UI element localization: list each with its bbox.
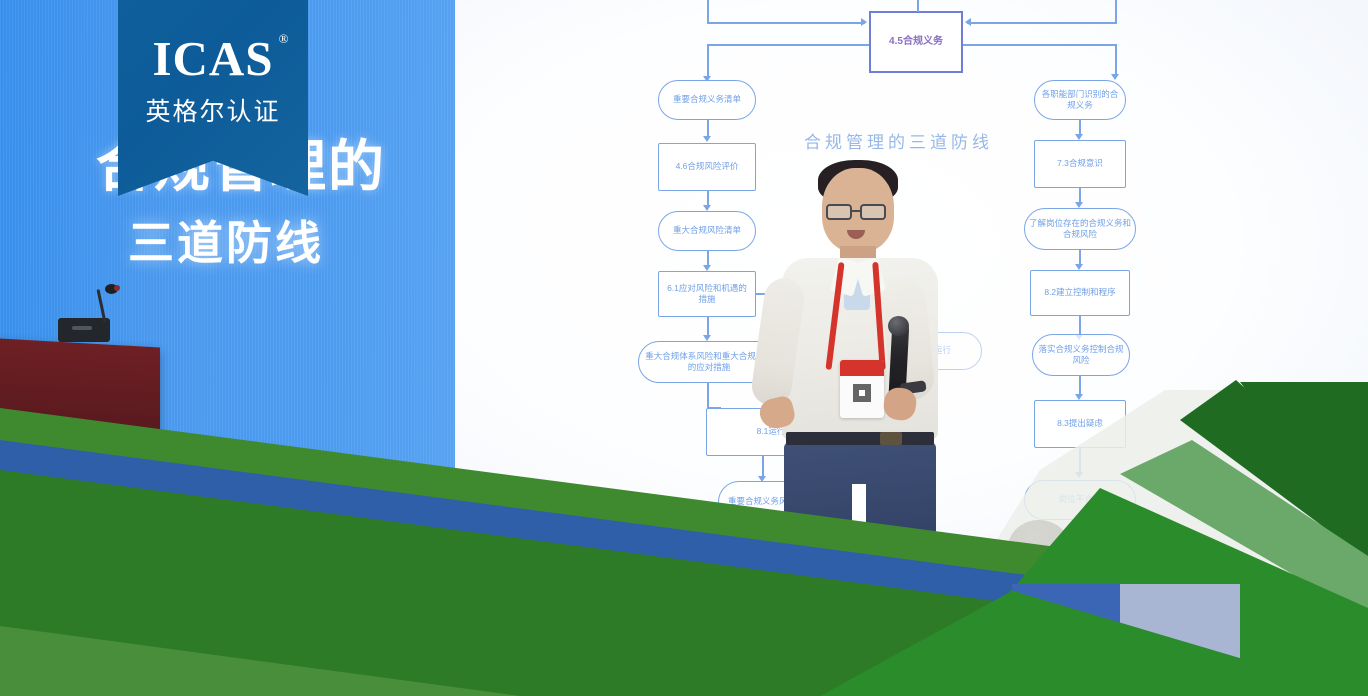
screenshot-canvas: 合规管理的 三道防线 ICAS ® 英格尔认证 合规管理的三道防线 4.5合规义… <box>0 0 1368 696</box>
flow-connector <box>1115 0 1117 24</box>
flow-connector <box>963 44 1115 46</box>
presenter-belt-buckle <box>880 432 902 445</box>
flow-connector <box>707 44 709 78</box>
flow-connector <box>1079 448 1081 474</box>
flow-node-key: 4.5合规义务 <box>869 11 963 73</box>
flow-connector <box>1079 316 1081 336</box>
slide-heading: 合规管理的三道防线 <box>804 128 993 153</box>
flow-connector <box>707 0 709 24</box>
backdrop-title-line-bottom: 三道防线 <box>128 207 458 273</box>
flow-node-left: 6.1应对风险和机遇的措施 <box>658 271 756 317</box>
overlay-band-green-accent <box>0 626 520 696</box>
badge-header-band <box>840 360 884 376</box>
flow-connector <box>707 317 709 337</box>
audience-head <box>1000 556 1070 618</box>
flow-arrow-icon <box>1111 74 1119 80</box>
flow-node-left: 重要合规义务清单 <box>658 80 756 120</box>
lectern-podium <box>0 338 160 468</box>
presenter-glasses-left-lens <box>826 204 852 220</box>
flow-node-right: 落实合规义务控制合规风险 <box>1032 334 1130 376</box>
presenter-glasses-right-lens <box>860 204 886 220</box>
flow-arrow-icon <box>965 18 971 26</box>
flow-node-right: 岗位不合规 <box>1024 480 1136 520</box>
presenter-figure <box>760 160 990 620</box>
flow-arrow-icon <box>703 136 711 142</box>
flow-node-right: 8.3提出疑虑 <box>1034 400 1126 448</box>
audience-head <box>738 558 802 616</box>
registered-mark-icon: ® <box>279 32 290 45</box>
flow-node-left: 4.6合规风险评价 <box>658 143 756 191</box>
flow-connector <box>1115 44 1117 76</box>
presenter-belt <box>786 432 934 445</box>
flow-node-right: 了解岗位存在的合规义务和合规风险 <box>1024 208 1136 250</box>
icas-logo-text: ICAS <box>152 31 273 86</box>
flow-connector <box>1079 520 1081 544</box>
icas-logo-subtitle: 英格尔认证 <box>145 92 280 128</box>
flow-node-left: 重大合规风险清单 <box>658 211 756 251</box>
icas-logo-wordmark: ICAS ® <box>152 34 273 83</box>
flow-connector <box>707 22 865 24</box>
gooseneck-microphone-head <box>105 284 118 294</box>
flow-node-right: 各职能部门识别的合规义务 <box>1034 80 1126 120</box>
audience-head <box>616 538 684 598</box>
qr-code-icon <box>853 384 871 402</box>
presenter-badge <box>840 360 884 418</box>
flow-node-right: 7.3合规意识 <box>1034 140 1126 188</box>
flow-arrow-icon <box>1075 542 1083 548</box>
flow-connector <box>917 0 919 12</box>
flow-connector <box>707 44 869 46</box>
podium-microphone-base <box>58 318 110 342</box>
flow-connector <box>1079 376 1081 396</box>
flow-connector <box>707 383 709 409</box>
flow-arrow-icon <box>861 18 867 26</box>
flow-connector <box>967 22 1117 24</box>
flow-node-right: 8.2建立控制和程序 <box>1030 270 1130 316</box>
handheld-microphone-head-icon <box>888 316 909 336</box>
presenter-leg-gap <box>852 484 866 610</box>
flow-arrow-icon <box>1075 472 1083 478</box>
presenter-glasses-bridge <box>852 210 860 212</box>
